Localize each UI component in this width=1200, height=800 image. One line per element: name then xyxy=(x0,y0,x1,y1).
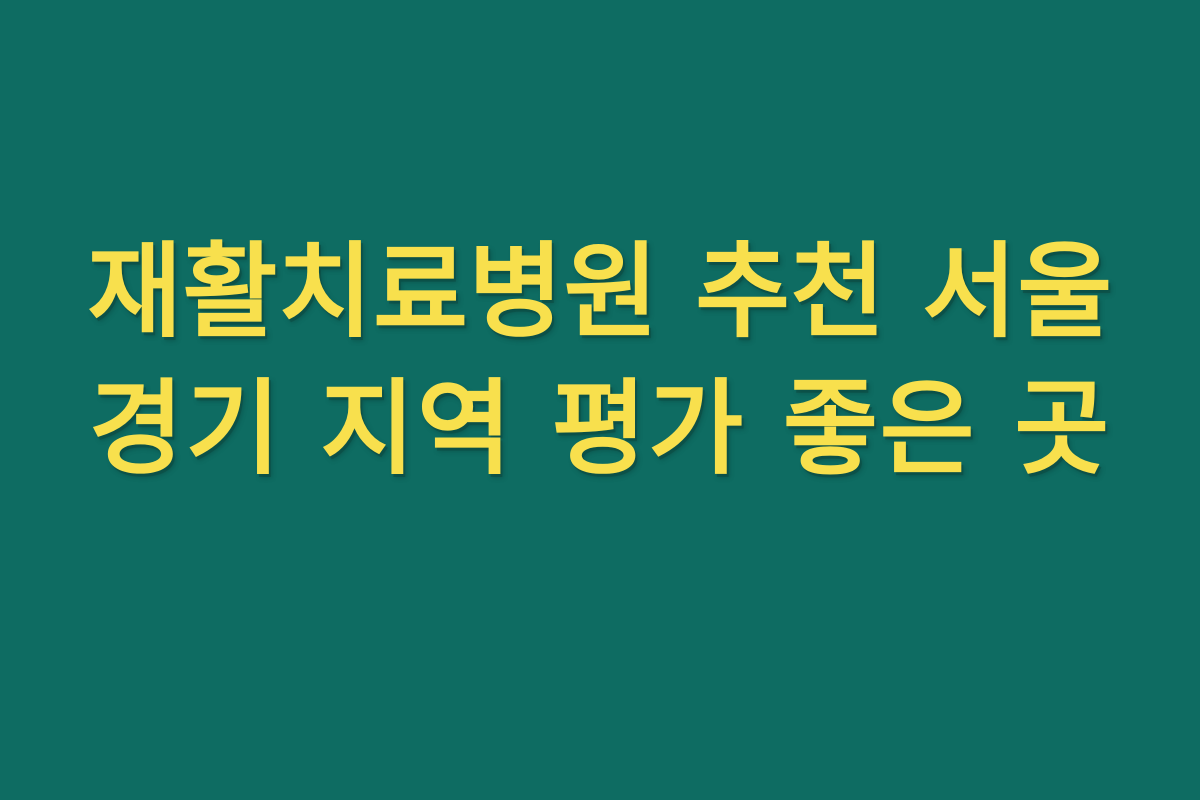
banner-canvas: 재활치료병원 추천 서울 경기 지역 평가 좋은 곳 xyxy=(0,0,1200,800)
title-line-1: 재활치료병원 추천 서울 xyxy=(0,224,1200,361)
title-block: 재활치료병원 추천 서울 경기 지역 평가 좋은 곳 xyxy=(0,224,1200,498)
title-line-2: 경기 지역 평가 좋은 곳 xyxy=(0,361,1200,498)
